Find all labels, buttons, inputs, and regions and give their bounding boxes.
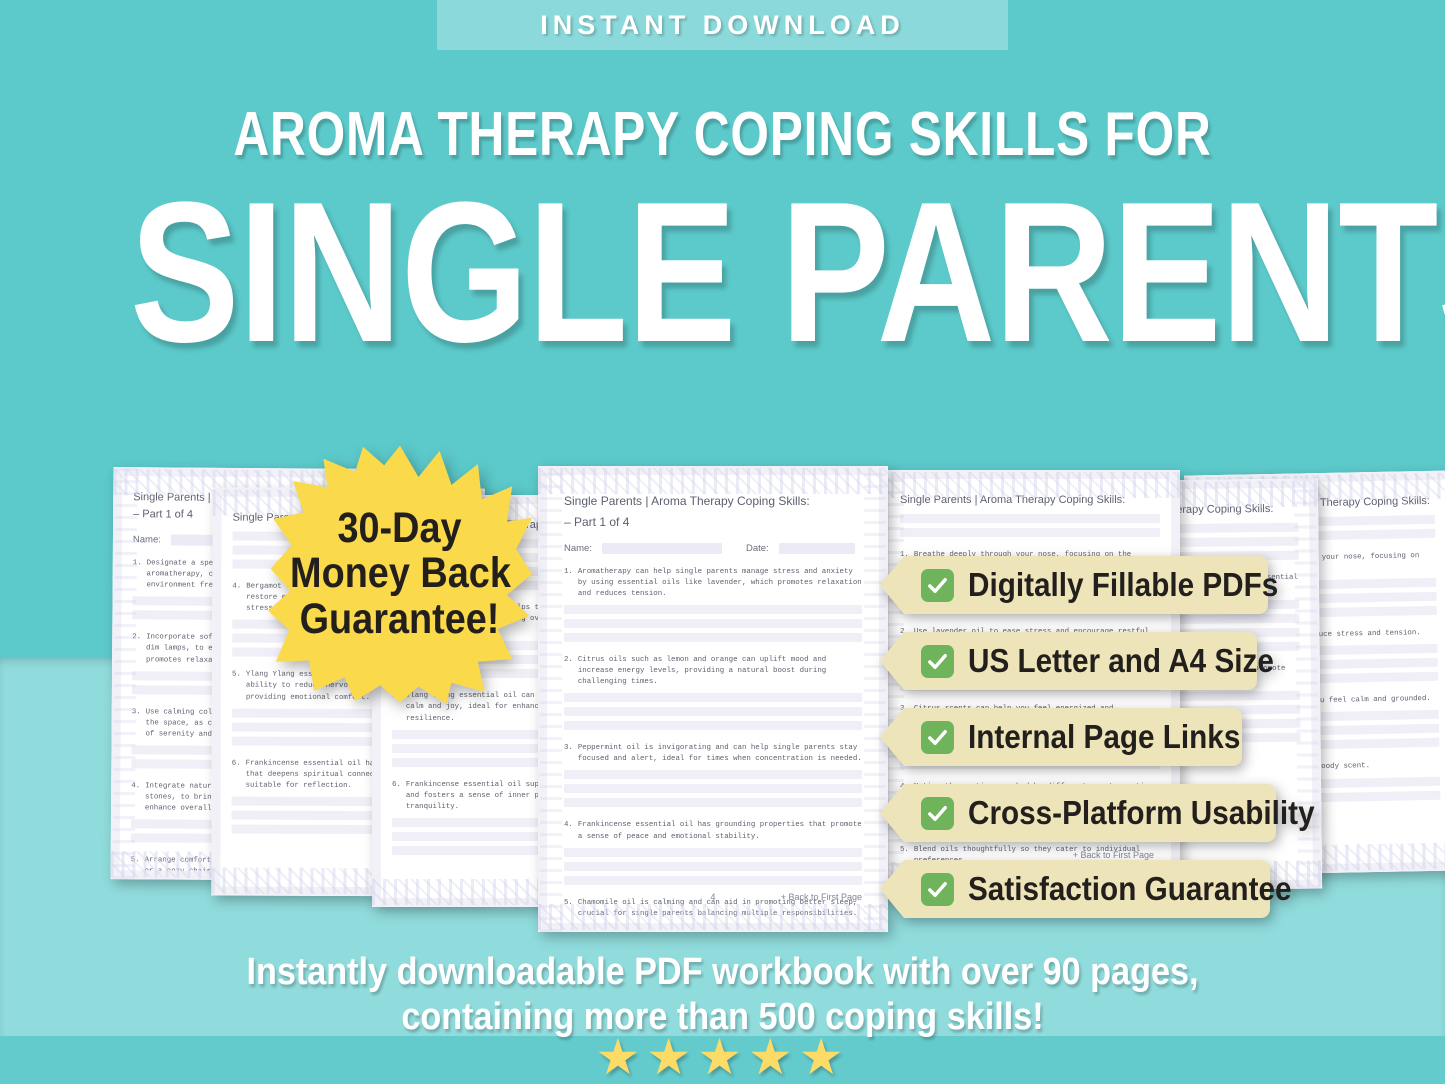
- instant-download-label: INSTANT DOWNLOAD: [540, 10, 904, 41]
- headline-block: AROMA THERAPY COPING SKILLS FOR SINGLE P…: [0, 104, 1445, 368]
- checkmark-icon: [921, 721, 954, 754]
- feature-callout[interactable]: Digitally Fillable PDFs: [880, 556, 1268, 614]
- doc-ornament-side: [540, 466, 562, 932]
- feature-callout[interactable]: Satisfaction Guarantee: [880, 860, 1270, 918]
- instant-download-banner: INSTANT DOWNLOAD: [437, 0, 1008, 50]
- check-glyph: [926, 650, 949, 673]
- feature-label: Digitally Fillable PDFs: [968, 566, 1302, 604]
- checkmark-icon: [921, 797, 954, 830]
- check-glyph: [926, 726, 949, 749]
- feature-label: US Letter and A4 Size: [968, 642, 1297, 680]
- feature-callout[interactable]: US Letter and A4 Size: [880, 632, 1257, 690]
- checkmark-icon: [921, 873, 954, 906]
- starburst-shape: [268, 443, 532, 705]
- check-glyph: [926, 574, 949, 597]
- money-back-guarantee-badge: 30-Day Money Back Guarantee!: [268, 443, 532, 705]
- star-rating: ★★★★★: [0, 1032, 1445, 1082]
- doc-ornament-top: [538, 468, 888, 494]
- checkmark-icon: [921, 645, 954, 678]
- feature-label: Cross-Platform Usability: [968, 794, 1338, 832]
- feature-callout[interactable]: Internal Page Links: [880, 708, 1242, 766]
- document-page-center: Single Parents | Aroma Therapy Coping Sk…: [538, 466, 888, 932]
- check-glyph: [926, 802, 949, 825]
- check-glyph: [926, 878, 949, 901]
- doc-border: [538, 466, 888, 932]
- feature-callout[interactable]: Cross-Platform Usability: [880, 784, 1276, 842]
- tagline-line-1: Instantly downloadable PDF workbook with…: [72, 950, 1373, 995]
- headline-subtitle: AROMA THERAPY COPING SKILLS FOR: [145, 104, 1301, 166]
- poster-canvas: Single Parents | Aroma Therapy Coping Sk…: [0, 0, 1445, 1084]
- doc-ornament-side: [113, 467, 138, 879]
- doc-ornament-bottom: [538, 904, 888, 930]
- feature-label: Satisfaction Guarantee: [968, 870, 1315, 908]
- feature-label: Internal Page Links: [968, 718, 1264, 756]
- doc-ornament-top: [880, 472, 1180, 498]
- feature-callout-list: Digitally Fillable PDFs US Letter and A4…: [880, 556, 1276, 936]
- star-rating-glyphs: ★★★★★: [595, 1029, 849, 1084]
- checkmark-icon: [921, 569, 954, 602]
- tagline-block: Instantly downloadable PDF workbook with…: [0, 950, 1445, 1040]
- headline-title: SINGLE PARENTS: [130, 178, 1315, 368]
